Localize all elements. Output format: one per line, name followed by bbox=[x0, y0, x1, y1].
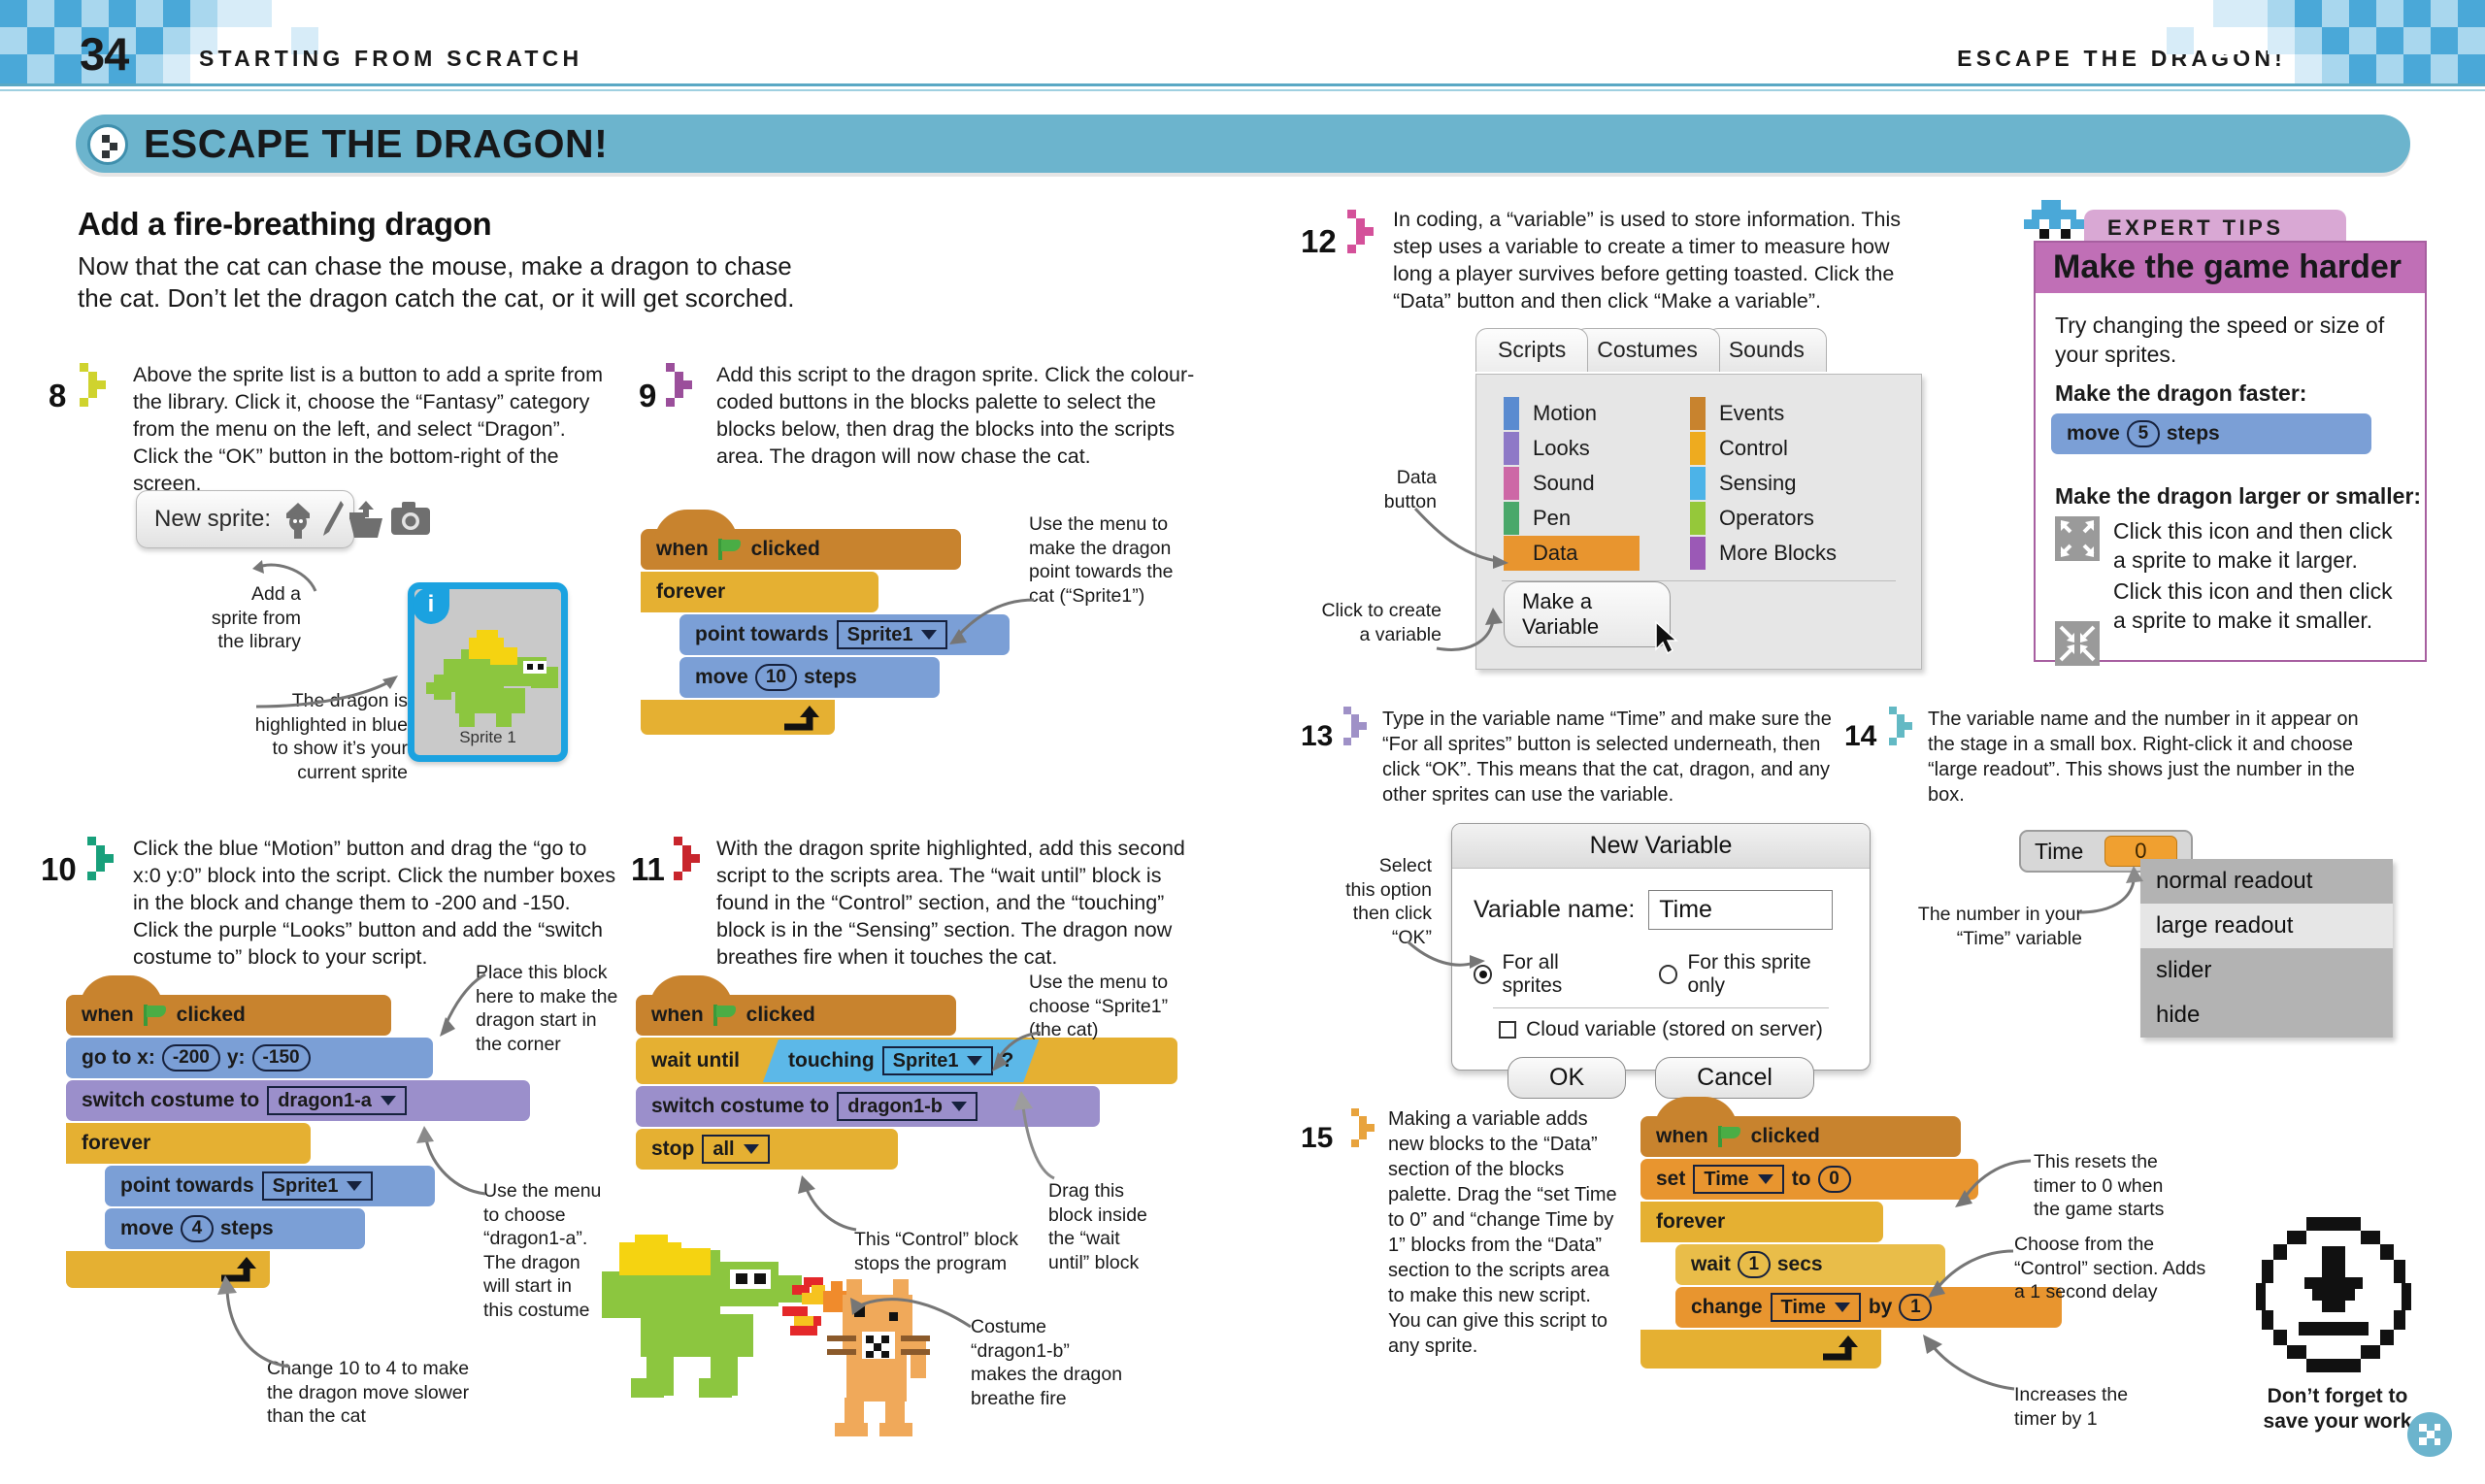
green-flag-icon bbox=[1718, 1126, 1741, 1147]
page-heading: Add a fire-breathing dragon bbox=[78, 206, 491, 243]
tab-costumes[interactable]: Costumes bbox=[1574, 328, 1720, 372]
page-corner-bullet-icon bbox=[2407, 1412, 2452, 1457]
step-14-text: The variable name and the number in it a… bbox=[1928, 707, 2384, 808]
intro-line-2: the cat. Don’t let the dragon catch the … bbox=[78, 282, 795, 314]
dropdown-value: dragon1-b bbox=[847, 1096, 943, 1118]
palette-category-pen[interactable]: Pen bbox=[1504, 501, 1640, 536]
palette-category-operators[interactable]: Operators bbox=[1690, 501, 1837, 536]
block-label: by bbox=[1869, 1296, 1893, 1319]
tab-scripts[interactable]: Scripts bbox=[1475, 328, 1588, 372]
expert-tips-pixel-icon bbox=[2024, 200, 2084, 245]
block-label: wait bbox=[1691, 1253, 1731, 1276]
color-swatch bbox=[1504, 397, 1519, 430]
block-label: point towards bbox=[695, 623, 829, 646]
loop-arrow-icon bbox=[780, 706, 815, 731]
dropdown-value: Time bbox=[1781, 1297, 1826, 1319]
category-label: Sound bbox=[1533, 471, 1595, 496]
block-stop[interactable]: stop all bbox=[636, 1129, 898, 1170]
step-14-arrow-icon bbox=[1889, 707, 1922, 753]
color-swatch bbox=[1690, 502, 1706, 535]
step-13-number: 13 bbox=[1301, 720, 1333, 753]
shrink-sprite-icon[interactable] bbox=[2055, 621, 2100, 666]
block-move-steps[interactable]: move 4 steps bbox=[105, 1208, 365, 1249]
callout-arrow-select-option bbox=[1406, 940, 1493, 988]
step-9-text: Add this script to the dragon sprite. Cl… bbox=[716, 361, 1202, 470]
block-forever[interactable]: forever bbox=[66, 1123, 311, 1164]
callout-arrow-costume-dragon1b bbox=[796, 1286, 980, 1344]
expert-tips-tab-label: EXPERT TIPS bbox=[2107, 215, 2284, 241]
block-label: steps bbox=[804, 666, 857, 689]
dropdown-value: dragon1-a bbox=[278, 1090, 372, 1112]
menu-item-hide[interactable]: hide bbox=[2140, 993, 2393, 1038]
radio-for-this-sprite-only-label: For this sprite only bbox=[1687, 951, 1848, 998]
callout-arrow-add-sprite bbox=[204, 548, 320, 597]
step-12-number: 12 bbox=[1301, 223, 1337, 260]
callout-arrow-resets-timer bbox=[1932, 1155, 2038, 1223]
callout-number-in-time: The number in your “Time” variable bbox=[1873, 903, 2082, 950]
callout-arrow-create-variable bbox=[1435, 602, 1522, 660]
step-13-arrow-icon bbox=[1343, 707, 1376, 753]
header-rule bbox=[0, 83, 2485, 86]
callout-change-10-to-4: Change 10 to 4 to make the dragon move s… bbox=[267, 1357, 519, 1429]
palette-category-sound[interactable]: Sound bbox=[1504, 466, 1640, 501]
block-forever-foot[interactable] bbox=[641, 700, 835, 735]
palette-categories-left: Motion Looks Sound Pen Data bbox=[1504, 396, 1640, 571]
block-label: clicked bbox=[177, 1004, 246, 1027]
input-go-to-x[interactable]: -200 bbox=[162, 1044, 220, 1072]
banner-bullet-icon bbox=[87, 124, 128, 165]
header-rule-light bbox=[0, 89, 2485, 91]
block-label: clicked bbox=[1751, 1125, 1820, 1148]
green-flag-icon bbox=[713, 1005, 737, 1026]
step-14-number: 14 bbox=[1844, 720, 1876, 753]
callout-click-to-create: Click to create a variable bbox=[1301, 599, 1441, 646]
step-15-number: 15 bbox=[1301, 1122, 1333, 1155]
chevron-down-icon bbox=[1835, 1303, 1850, 1312]
callout-increases-timer: Increases the timer by 1 bbox=[2014, 1383, 2208, 1431]
intro-line-1: Now that the cat can chase the mouse, ma… bbox=[78, 250, 792, 282]
step-9-arrow-icon bbox=[666, 363, 699, 410]
variable-readout-name: Time bbox=[2035, 839, 2083, 865]
callout-choose-sprite1-cat: Use the menu to choose “Sprite1” (the ca… bbox=[1029, 971, 1223, 1042]
dialog-title: New Variable bbox=[1452, 824, 1870, 869]
block-label: when bbox=[656, 538, 709, 561]
header-pixel-decoration-right bbox=[2097, 0, 2485, 83]
block-label: touching bbox=[788, 1049, 875, 1072]
callout-choose-control-delay: Choose from the “Control” section. Adds … bbox=[2014, 1233, 2247, 1304]
color-swatch bbox=[1690, 537, 1706, 570]
block-label: clicked bbox=[751, 538, 820, 561]
palette-category-more-blocks[interactable]: More Blocks bbox=[1690, 536, 1837, 571]
block-label: change bbox=[1691, 1296, 1763, 1319]
step-11-arrow-icon bbox=[674, 837, 707, 883]
save-your-work-label: Don’t forget to save your work bbox=[2260, 1384, 2415, 1435]
step-8-number: 8 bbox=[49, 378, 66, 414]
block-label: switch costume to bbox=[82, 1089, 259, 1112]
sprite-library-icon[interactable] bbox=[282, 500, 315, 539]
expert-tips-subhead-speed: Make the dragon faster: bbox=[2055, 379, 2306, 408]
block-go-to-xy[interactable]: go to x: -200 y: -150 bbox=[66, 1038, 433, 1078]
callout-costume-dragon1b: Costume “dragon1-b” makes the dragon bre… bbox=[971, 1315, 1179, 1410]
new-sprite-label: New sprite: bbox=[154, 506, 271, 533]
dropdown-value: Sprite1 bbox=[273, 1175, 339, 1198]
palette-category-data[interactable]: Data bbox=[1504, 536, 1640, 571]
save-your-work-badge: Don’t forget to save your work bbox=[2252, 1213, 2427, 1376]
blocks-palette-panel: Motion Looks Sound Pen Data Events bbox=[1475, 374, 1922, 670]
palette-category-events[interactable]: Events bbox=[1690, 396, 1837, 431]
block-label: when bbox=[82, 1004, 134, 1027]
readout-context-menu: normal readout large readout slider hide bbox=[2140, 859, 2393, 1038]
menu-item-large-readout[interactable]: large readout bbox=[2140, 904, 2393, 948]
block-label: move bbox=[2067, 422, 2120, 445]
color-swatch bbox=[1690, 432, 1706, 465]
block-forever[interactable]: forever bbox=[1640, 1202, 1883, 1242]
checkbox-cloud-variable[interactable] bbox=[1499, 1021, 1516, 1039]
palette-categories-right: Events Control Sensing Operators More Bl… bbox=[1690, 396, 1837, 571]
chevron-down-icon bbox=[347, 1181, 362, 1191]
block-when-flag-clicked[interactable]: when clicked bbox=[66, 995, 391, 1036]
block-label: set bbox=[1656, 1168, 1685, 1191]
variable-name-input[interactable]: Time bbox=[1648, 890, 1833, 930]
category-label: Operators bbox=[1719, 506, 1814, 531]
new-variable-dialog: New Variable Variable name: Time For all… bbox=[1451, 823, 1871, 1071]
category-label: Motion bbox=[1533, 401, 1597, 426]
chevron-down-icon bbox=[744, 1144, 759, 1154]
chevron-down-icon bbox=[1758, 1174, 1773, 1184]
input-go-to-y[interactable]: -150 bbox=[252, 1044, 311, 1072]
block-label: stop bbox=[651, 1138, 694, 1161]
menu-item-slider[interactable]: slider bbox=[2140, 948, 2393, 993]
callout-arrow-drag-this-block bbox=[978, 1077, 1066, 1184]
category-label: Control bbox=[1719, 436, 1788, 461]
palette-category-looks[interactable]: Looks bbox=[1504, 431, 1640, 466]
chevron-down-icon bbox=[381, 1096, 396, 1105]
input-set-value[interactable]: 0 bbox=[1818, 1166, 1851, 1193]
shrink-sprite-text: Click this icon and then click a sprite … bbox=[2113, 577, 2404, 635]
color-swatch bbox=[1504, 467, 1519, 500]
block-label: when bbox=[1656, 1125, 1708, 1148]
input-move-steps[interactable]: 5 bbox=[2127, 420, 2160, 447]
block-label: forever bbox=[1656, 1210, 1725, 1234]
grow-sprite-icon[interactable] bbox=[2055, 516, 2100, 561]
dropdown-stop-target[interactable]: all bbox=[702, 1135, 769, 1164]
step-15-arrow-icon bbox=[1351, 1108, 1384, 1155]
paint-brush-icon[interactable] bbox=[321, 499, 345, 540]
grow-sprite-text: Click this icon and then click a sprite … bbox=[2113, 516, 2404, 575]
sprite-card-name: Sprite 1 bbox=[414, 728, 561, 747]
block-move-steps[interactable]: move 10 steps bbox=[679, 657, 940, 698]
dragon-sprite-thumbnail bbox=[426, 624, 564, 731]
step-13-text: Type in the variable name “Time” and mak… bbox=[1382, 707, 1839, 808]
palette-category-sensing[interactable]: Sensing bbox=[1690, 466, 1837, 501]
page-number-left: 34 bbox=[80, 27, 128, 81]
variable-name-label: Variable name: bbox=[1474, 896, 1635, 924]
block-label: when bbox=[651, 1004, 704, 1027]
running-head-left: STARTING FROM SCRATCH bbox=[199, 46, 582, 72]
callout-arrow-dragon-highlighted bbox=[254, 670, 410, 718]
callout-point-towards-menu: Use the menu to make the dragon point to… bbox=[1029, 512, 1233, 608]
callout-drag-this-block: Drag this block inside the “wait until” … bbox=[1048, 1179, 1189, 1274]
step-11-text: With the dragon sprite highlighted, add … bbox=[716, 835, 1202, 971]
sprite-card[interactable]: i Sprite 1 bbox=[408, 582, 568, 762]
expert-tips-subhead-size: Make the dragon larger or smaller: bbox=[2055, 481, 2421, 511]
dropdown-value: Time bbox=[1704, 1169, 1748, 1191]
callout-arrow-data-button bbox=[1408, 505, 1514, 573]
sprite-info-badge[interactable]: i bbox=[413, 587, 449, 624]
upload-sprite-icon[interactable] bbox=[348, 499, 384, 540]
mouse-cursor-icon bbox=[1654, 620, 1683, 659]
radio-for-this-sprite-only[interactable] bbox=[1659, 965, 1677, 984]
category-label: Events bbox=[1719, 401, 1784, 426]
radio-for-all-sprites-label: For all sprites bbox=[1502, 951, 1620, 998]
input-wait-secs[interactable]: 1 bbox=[1738, 1251, 1771, 1278]
callout-arrow-number-in-time bbox=[2077, 862, 2155, 920]
save-download-icon bbox=[2252, 1213, 2415, 1376]
category-label: Sensing bbox=[1719, 471, 1797, 496]
camera-icon[interactable] bbox=[391, 502, 430, 535]
category-label: More Blocks bbox=[1719, 541, 1837, 566]
step-10-text: Click the blue “Motion” button and drag … bbox=[133, 835, 618, 971]
step-12-text: In coding, a “variable” is used to store… bbox=[1393, 206, 1922, 314]
expert-tips-panel: EXPERT TIPS Make the game harder Try cha… bbox=[2034, 206, 2427, 662]
callout-arrow-point-towards bbox=[903, 594, 1039, 652]
block-label: steps bbox=[2167, 422, 2220, 445]
callout-arrow-change-10-to-4 bbox=[192, 1252, 299, 1373]
step-15-text: Making a variable adds new blocks to the… bbox=[1388, 1106, 1621, 1359]
step-8-arrow-icon bbox=[80, 363, 113, 410]
ok-button[interactable]: OK bbox=[1508, 1057, 1626, 1099]
callout-resets-timer: This resets the timer to 0 when the game… bbox=[2034, 1150, 2237, 1222]
step-12-arrow-icon bbox=[1347, 210, 1380, 256]
block-set-variable[interactable]: set Time to 0 bbox=[1640, 1159, 1978, 1200]
section-title: ESCAPE THE DRAGON! bbox=[144, 121, 608, 167]
color-swatch bbox=[1504, 432, 1519, 465]
block-label: wait until bbox=[651, 1049, 740, 1072]
tab-sounds[interactable]: Sounds bbox=[1706, 328, 1827, 372]
category-label: Data bbox=[1533, 541, 1577, 566]
cancel-button[interactable]: Cancel bbox=[1655, 1057, 1814, 1099]
step-9-number: 9 bbox=[639, 378, 656, 414]
loop-arrow-icon bbox=[1819, 1336, 1854, 1361]
checkbox-cloud-variable-label: Cloud variable (stored on server) bbox=[1526, 1018, 1823, 1041]
callout-place-this-block: Place this block here to make the dragon… bbox=[476, 961, 646, 1056]
dropdown-value: Sprite1 bbox=[893, 1050, 959, 1072]
dropdown-variable[interactable]: Time bbox=[1693, 1165, 1783, 1194]
expert-tips-title: Make the game harder bbox=[2053, 248, 2402, 286]
color-swatch bbox=[1690, 467, 1706, 500]
input-move-steps[interactable]: 10 bbox=[755, 664, 797, 691]
block-label: secs bbox=[1777, 1253, 1823, 1276]
step-10-arrow-icon bbox=[87, 837, 120, 883]
callout-arrow-control-stops bbox=[767, 1170, 864, 1242]
block-when-flag-clicked[interactable]: when clicked bbox=[1640, 1116, 1961, 1157]
chevron-down-icon bbox=[951, 1102, 967, 1111]
callout-select-option-ok: Select this option then click “OK” bbox=[1310, 854, 1432, 949]
make-a-variable-button[interactable]: Make a Variable bbox=[1504, 581, 1671, 647]
category-label: Looks bbox=[1533, 436, 1590, 461]
step-11-number: 11 bbox=[631, 851, 665, 888]
callout-arrow-choose-sprite1 bbox=[971, 1031, 1048, 1079]
step-10-number: 10 bbox=[41, 851, 77, 888]
color-swatch bbox=[1690, 397, 1706, 430]
palette-tab-row: Scripts Costumes Sounds bbox=[1475, 328, 1827, 372]
green-flag-icon bbox=[718, 539, 742, 560]
block-wait-until[interactable]: wait until touching Sprite1 ? bbox=[636, 1038, 1177, 1084]
callout-arrow-place-block bbox=[403, 971, 490, 1048]
dragon-breathing-fire-illustration bbox=[602, 1242, 922, 1461]
expert-tips-intro: Try changing the speed or size of your s… bbox=[2055, 311, 2395, 369]
block-label: steps bbox=[220, 1217, 274, 1240]
step-8-text: Above the sprite list is a button to add… bbox=[133, 361, 613, 497]
callout-arrow-control-delay bbox=[1905, 1247, 2021, 1315]
block-label: move bbox=[695, 666, 748, 689]
block-label: go to x: bbox=[82, 1046, 155, 1070]
palette-category-control[interactable]: Control bbox=[1690, 431, 1837, 466]
category-label: Pen bbox=[1533, 506, 1571, 531]
green-flag-icon bbox=[144, 1005, 167, 1026]
block-label: y: bbox=[227, 1046, 246, 1070]
block-label: to bbox=[1792, 1168, 1811, 1191]
block-move-steps-tip[interactable]: move 5 steps bbox=[2051, 413, 2371, 454]
dropdown-variable[interactable]: Time bbox=[1771, 1293, 1861, 1322]
block-when-flag-clicked[interactable]: when clicked bbox=[641, 529, 961, 570]
dropdown-point-towards-target[interactable]: Sprite1 bbox=[262, 1171, 374, 1201]
palette-category-motion[interactable]: Motion bbox=[1504, 396, 1640, 431]
block-label: forever bbox=[82, 1132, 150, 1155]
dropdown-value: all bbox=[712, 1138, 734, 1161]
input-move-steps[interactable]: 4 bbox=[181, 1215, 214, 1242]
callout-arrow-choose-dragon1a bbox=[383, 1106, 490, 1199]
menu-item-normal-readout[interactable]: normal readout bbox=[2140, 859, 2393, 904]
block-forever[interactable]: forever bbox=[641, 572, 878, 612]
block-label: forever bbox=[656, 580, 725, 604]
dropdown-costume[interactable]: dragon1-b bbox=[837, 1092, 977, 1121]
block-label: point towards bbox=[120, 1174, 254, 1198]
block-forever-foot[interactable] bbox=[1640, 1330, 1881, 1369]
block-when-flag-clicked[interactable]: when clicked bbox=[636, 995, 956, 1036]
callout-arrow-increases-timer bbox=[1888, 1325, 2024, 1398]
block-label: switch costume to bbox=[651, 1095, 829, 1118]
block-label: clicked bbox=[746, 1004, 815, 1027]
block-label: move bbox=[120, 1217, 174, 1240]
